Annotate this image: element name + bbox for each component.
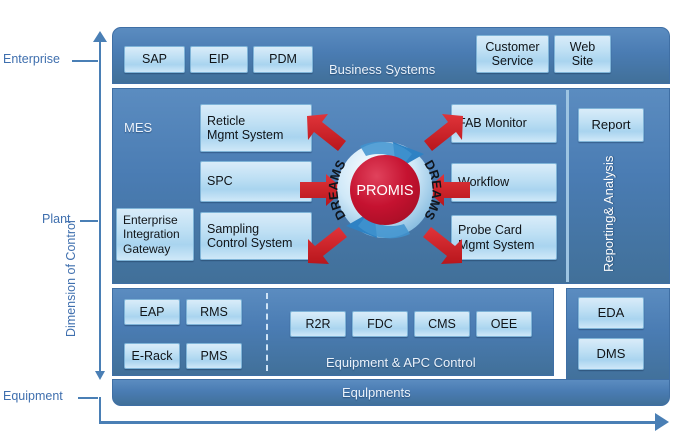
axis-vertical-line [99,42,101,372]
box-report[interactable]: Report [578,108,644,142]
box-e-rack[interactable]: E-Rack [124,343,180,369]
box-oee[interactable]: OEE [476,311,532,337]
mes-caption: MES [124,120,152,135]
box-fdc[interactable]: FDC [352,311,408,337]
axis-tick-enterprise [72,60,98,62]
reporting-analysis-caption: Reporting& Analysis [601,156,616,272]
box-customer-service[interactable]: Customer Service [476,35,549,73]
box-pms[interactable]: PMS [186,343,242,369]
box-dms[interactable]: DMS [578,338,644,370]
axis-tick-equipment [78,397,98,399]
axis-horizontal-line [99,421,657,424]
box-cms[interactable]: CMS [414,311,470,337]
box-reticle-mgmt-system[interactable]: Reticle Mgmt System [200,104,312,152]
box-pdm[interactable]: PDM [253,46,313,73]
box-rms[interactable]: RMS [186,299,242,325]
axis-arrow-right [655,413,669,431]
axis-bottom-corner [99,397,101,423]
box-spc[interactable]: SPC [200,161,312,202]
axis-tick-plant [80,220,98,222]
business-systems-caption: Business Systems [329,62,435,77]
axis-level-enterprise: Enterprise [3,52,60,66]
promis-dreams-core: DREAMS DREAMS PROMIS [300,110,470,270]
axis-level-equipment: Equipment [3,389,63,403]
box-web-site[interactable]: Web Site [554,35,611,73]
box-eda[interactable]: EDA [578,297,644,329]
box-eap[interactable]: EAP [124,299,180,325]
box-sap[interactable]: SAP [124,46,185,73]
apc-control-caption: Equipment & APC Control [326,355,476,370]
axis-level-plant: Plant [42,212,71,226]
axis-y-title: Dimension of Control [64,220,78,337]
box-r2r[interactable]: R2R [290,311,346,337]
axis-arrow-down [95,371,105,380]
box-enterprise-integration-gateway[interactable]: Enterprise Integration Gateway [116,208,194,261]
box-eip[interactable]: EIP [190,46,248,73]
mes-reporting-separator [566,90,569,282]
diagram-root: Dimension of Control Enterprise Plant Eq… [0,0,684,443]
axis-arrow-up [93,31,107,42]
equipments-caption: Equlpments [342,385,411,400]
apc-dashed-divider [266,293,268,371]
promis-label: PROMIS [356,183,413,199]
box-sampling-control-system[interactable]: Sampling Control System [200,212,312,260]
